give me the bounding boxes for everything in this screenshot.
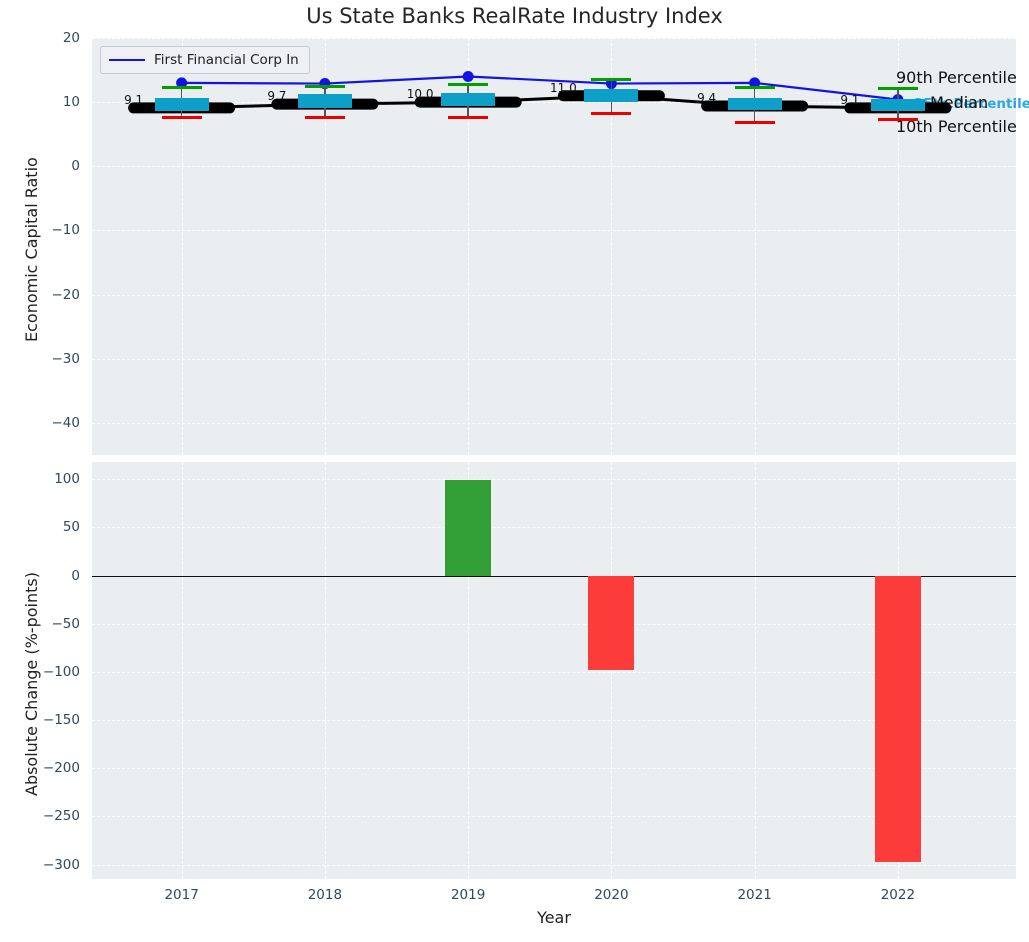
x-axis-label: Year [92,908,1016,927]
box-cap-10th-percentile [162,116,202,119]
y-axis-label-top: Economic Capital Ratio [22,157,41,342]
box-cap-90th-percentile [735,86,775,89]
gridline-vertical [325,462,326,879]
gridline-vertical [755,462,756,879]
y-axis-tick-label: −150 [22,712,80,728]
annotation-90th-percentile: 90th Percentile [896,68,1017,87]
gridline-horizontal [92,38,1016,39]
y-axis-tick-label: −40 [22,415,80,431]
y-axis-tick-label: 20 [22,30,80,46]
box-cap-90th-percentile [591,78,631,81]
chart-title: Us State Banks RealRate Industry Index [0,4,1029,28]
y-axis-tick-label: −250 [22,808,80,824]
gridline-vertical [182,462,183,879]
median-value-label: 11.0 [550,81,577,95]
y-axis-tick-label: −50 [22,616,80,632]
y-axis-tick-label: −10 [22,222,80,238]
box-cap-10th-percentile [878,118,918,121]
chart-legend: First Financial Corp In [100,46,310,74]
box-cap-90th-percentile [162,86,202,89]
box-cap-90th-percentile [305,85,345,88]
median-value-label: 9.1 [840,93,859,107]
y-axis-tick-label: −100 [22,664,80,680]
absolute-change-bar [875,576,921,862]
y-axis-tick-label: −30 [22,351,80,367]
box-interquartile-range [441,93,495,106]
box-interquartile-range [871,99,925,111]
box-cap-10th-percentile [735,121,775,124]
gridline-horizontal [92,230,1016,231]
box-cap-10th-percentile [305,116,345,119]
y-axis-tick-label: 0 [22,568,80,584]
y-axis-tick-label: 0 [22,158,80,174]
y-axis-tick-label: 50 [22,519,80,535]
box-interquartile-range [155,98,209,111]
x-axis-tick-label: 2022 [853,887,943,903]
box-cap-90th-percentile [448,83,488,86]
annotation-median: Median [930,93,988,112]
x-axis-tick-label: 2018 [280,887,370,903]
gridline-horizontal [92,479,1016,480]
box-interquartile-range [728,98,782,111]
median-value-label: 9.7 [267,89,286,103]
legend-line-swatch [109,59,145,61]
x-axis-tick-label: 2020 [566,887,656,903]
box-cap-10th-percentile [448,116,488,119]
absolute-change-bar [445,480,491,575]
y-axis-tick-label: −300 [22,857,80,873]
y-axis-tick-label: 10 [22,94,80,110]
median-value-label: 10.0 [407,87,434,101]
gridline-horizontal [92,295,1016,296]
median-value-label: 9.4 [697,91,716,105]
gridline-vertical [611,462,612,879]
x-axis-tick-label: 2017 [137,887,227,903]
gridline-horizontal [92,166,1016,167]
y-axis-tick-label: 100 [22,471,80,487]
absolute-change-bar [588,576,634,670]
chart-figure: Us State Banks RealRate Industry Index E… [0,0,1029,942]
median-value-label: 9.1 [124,93,143,107]
legend-label-first-financial-corp-in: First Financial Corp In [154,52,299,68]
box-interquartile-range [298,94,352,107]
box-interquartile-range [584,89,638,102]
gridline-horizontal [92,359,1016,360]
x-axis-tick-label: 2019 [423,887,513,903]
box-cap-90th-percentile [878,87,918,90]
x-axis-tick-label: 2021 [710,887,800,903]
panel-absolute-change [92,462,1016,879]
y-axis-tick-label: −20 [22,287,80,303]
gridline-horizontal [92,423,1016,424]
box-cap-10th-percentile [591,112,631,115]
gridline-horizontal [92,527,1016,528]
y-axis-tick-label: −200 [22,760,80,776]
gridline-horizontal [92,865,1016,866]
